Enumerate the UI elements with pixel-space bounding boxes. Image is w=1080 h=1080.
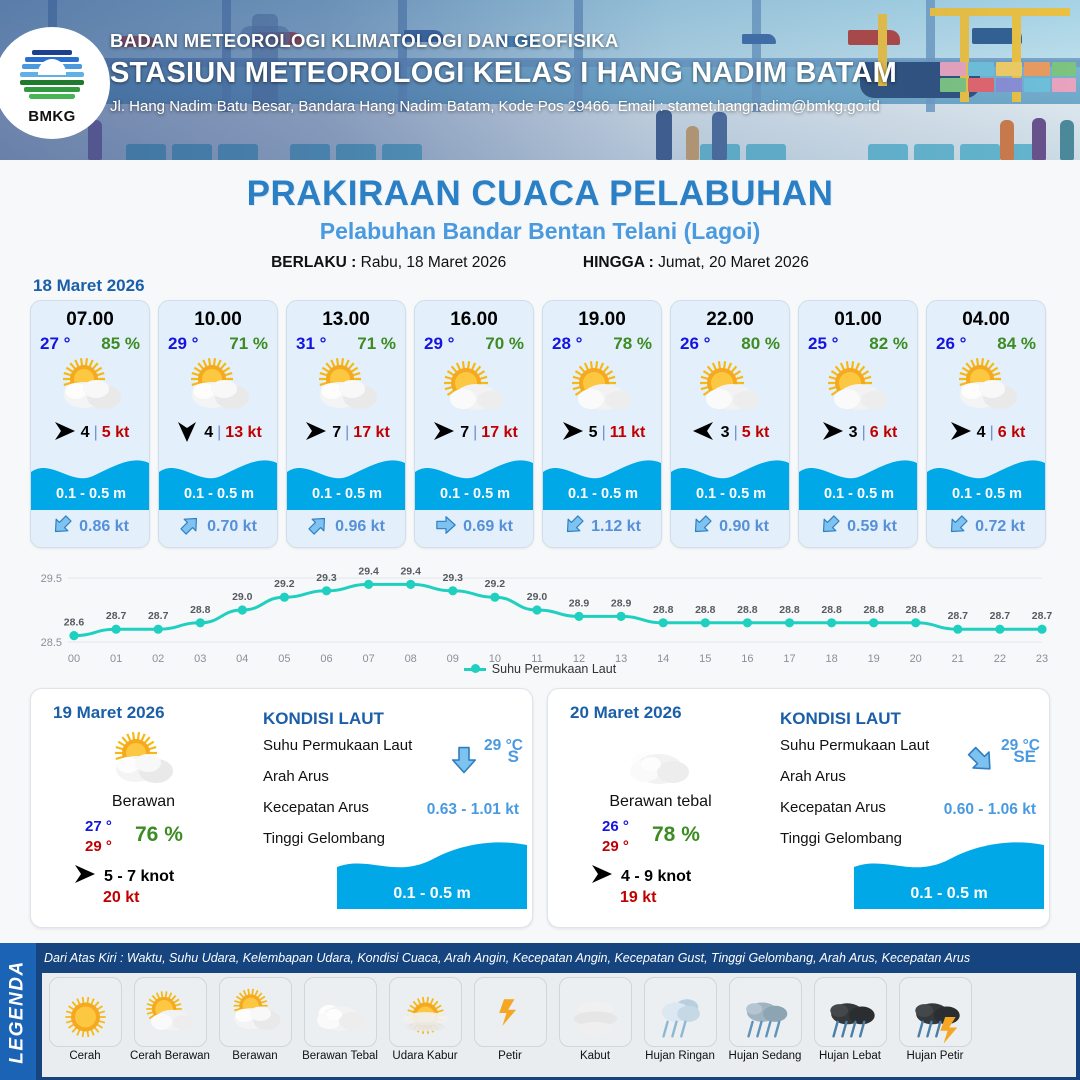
wave-height: 0.1 - 0.5 m	[287, 486, 406, 502]
separator: |	[94, 424, 98, 442]
wind-speed: 5	[589, 424, 598, 442]
svg-text:28.6: 28.6	[64, 617, 85, 629]
card-current-row: 0.70 kt	[159, 510, 277, 544]
sst-line-chart: 29.528.528.60028.70128.70228.80329.00429…	[22, 558, 1058, 678]
legend-item-label: Cerah	[69, 1050, 100, 1062]
forecast-card[interactable]: 19.00 28 ° 78 % 5 | 11 kt 0.1 - 0.5 m 1.…	[542, 300, 662, 548]
panel-condition: Berawan	[31, 793, 256, 811]
current-direction-label: Arah Arus	[263, 768, 329, 785]
separator: |	[345, 424, 349, 442]
legend-item: Cerah	[45, 977, 125, 1073]
wind-direction-icon	[819, 418, 845, 449]
separator: |	[602, 424, 606, 442]
weather-icon-berawan	[159, 358, 277, 416]
svg-text:28.8: 28.8	[863, 604, 884, 616]
wind-direction-icon	[947, 418, 973, 449]
svg-text:28.8: 28.8	[190, 604, 211, 616]
panel-sea-block: KONDISI LAUT Suhu Permukaan Laut 29 °C A…	[263, 709, 523, 861]
panel-wave-value: 0.1 - 0.5 m	[337, 885, 527, 903]
separator: |	[990, 424, 994, 442]
wind-direction-icon	[691, 418, 717, 449]
svg-text:28.7: 28.7	[948, 610, 969, 622]
legend-item-label: Berawan	[232, 1050, 277, 1062]
separator: |	[473, 424, 477, 442]
legend-icon-berawan	[219, 977, 292, 1047]
svg-text:28.7: 28.7	[1032, 610, 1053, 622]
valid-from-label: BERLAKU :	[271, 254, 356, 271]
legend-item-label: Hujan Sedang	[729, 1050, 802, 1062]
legend-icon-hujan-ringan	[644, 977, 717, 1047]
legend-item: Cerah Berawan	[130, 977, 210, 1073]
current-speed-value: 0.63 - 1.01 kt	[427, 801, 519, 819]
hourly-forecast-cards: 07.00 27 ° 85 % 4 | 5 kt 0.1 - 0.5 m	[30, 300, 1050, 548]
daily-forecast-panels: 19 Maret 2026 Berawan 27 ° 29 ° 76 % 5 -…	[30, 688, 1050, 928]
legend-label: Suhu Permukaan Laut	[492, 662, 616, 676]
wind-direction-icon	[430, 418, 456, 449]
card-current-row: 0.96 kt	[287, 510, 405, 544]
current-direction-value: S	[508, 747, 519, 767]
current-direction-icon	[179, 514, 201, 541]
header-text-block: BADAN METEOROLOGI KLIMATOLOGI DAN GEOFIS…	[110, 30, 897, 115]
card-time: 07.00	[31, 301, 149, 331]
valid-until-label: HINGGA :	[583, 254, 654, 271]
card-time: 13.00	[287, 301, 405, 331]
separator: |	[217, 424, 221, 442]
sst-label: Suhu Permukaan Laut	[263, 737, 412, 754]
gust-speed: 11 kt	[610, 424, 646, 442]
current-direction-row: Arah Arus	[263, 768, 523, 799]
svg-text:28.8: 28.8	[779, 604, 800, 616]
gust-speed: 13 kt	[225, 424, 261, 442]
current-direction-value: SE	[1013, 747, 1036, 767]
card-wave-block: 0.1 - 0.5 m	[543, 452, 661, 510]
current-speed-label: Kecepatan Arus	[263, 799, 369, 816]
svg-text:29.3: 29.3	[443, 572, 464, 584]
weather-icon-cerah-berawan	[415, 358, 533, 416]
card-wave-block: 0.1 - 0.5 m	[671, 452, 789, 510]
wind-speed: 4	[81, 424, 90, 442]
legend-icon-petir	[474, 977, 547, 1047]
forecast-card[interactable]: 07.00 27 ° 85 % 4 | 5 kt 0.1 - 0.5 m	[30, 300, 150, 548]
legend-side-title: LEGENDA	[7, 960, 29, 1063]
panel-gust: 19 kt	[620, 889, 656, 907]
panel-wind-range: 5 - 7 knot	[104, 868, 174, 886]
svg-text:29.0: 29.0	[232, 591, 253, 603]
card-wave-block: 0.1 - 0.5 m	[927, 452, 1045, 510]
card-current-row: 0.59 kt	[799, 510, 917, 544]
svg-text:28.9: 28.9	[611, 597, 632, 609]
svg-text:28.5: 28.5	[41, 637, 62, 649]
current-speed: 1.12 kt	[591, 518, 641, 536]
legend-item: Hujan Petir	[895, 977, 975, 1073]
card-time: 19.00	[543, 301, 661, 331]
legend-icon-berawan-tebal	[304, 977, 377, 1047]
svg-text:28.8: 28.8	[653, 604, 674, 616]
day1-date: 18 Maret 2026	[33, 276, 145, 296]
panel-wave-value: 0.1 - 0.5 m	[854, 885, 1044, 903]
svg-text:28.7: 28.7	[148, 610, 169, 622]
svg-text:29.3: 29.3	[316, 572, 337, 584]
svg-text:28.7: 28.7	[990, 610, 1011, 622]
legend-item: Hujan Lebat	[810, 977, 890, 1073]
card-time: 22.00	[671, 301, 789, 331]
legend-item-label: Hujan Lebat	[819, 1050, 881, 1062]
page-header: BMKG BADAN METEOROLOGI KLIMATOLOGI DAN G…	[0, 0, 1080, 160]
gust-speed: 17 kt	[353, 424, 389, 442]
svg-text:28.8: 28.8	[905, 604, 926, 616]
daily-forecast-panel: 20 Maret 2026 Berawan tebal 26 ° 29 ° 78…	[547, 688, 1050, 928]
separator: |	[734, 424, 738, 442]
legend-item: Kabut	[555, 977, 635, 1073]
sst-row: Suhu Permukaan Laut 29 °C	[263, 737, 523, 768]
svg-text:28.8: 28.8	[821, 604, 842, 616]
forecast-card[interactable]: 13.00 31 ° 71 % 7 | 17 kt 0.1 - 0.5 m	[286, 300, 406, 548]
legend-icon-hujan-petir	[899, 977, 972, 1047]
weather-icon-berawan	[87, 731, 197, 791]
svg-text:29.0: 29.0	[527, 591, 548, 603]
legend-icon-hujan-sedang	[729, 977, 802, 1047]
card-current-row: 0.86 kt	[31, 510, 149, 544]
legend-line-marker	[464, 668, 486, 671]
legend-item-label: Hujan Ringan	[645, 1050, 715, 1062]
legend-item: Udara Kabur	[385, 977, 465, 1073]
legend-item-label: Cerah Berawan	[130, 1050, 210, 1062]
legend-icon-cerah-berawan	[134, 977, 207, 1047]
validity-row: BERLAKU : Rabu, 18 Maret 2026 HINGGA : J…	[0, 254, 1080, 272]
card-time: 10.00	[159, 301, 277, 331]
weather-icon-berawan	[31, 358, 149, 416]
wave-height: 0.1 - 0.5 m	[543, 486, 662, 502]
current-speed: 0.96 kt	[335, 518, 385, 536]
wind-speed: 3	[721, 424, 730, 442]
wave-height: 0.1 - 0.5 m	[415, 486, 534, 502]
panel-humidity: 78 %	[652, 823, 700, 847]
sst-label: Suhu Permukaan Laut	[780, 737, 929, 754]
panel-gust: 20 kt	[103, 889, 139, 907]
panel-sea-block: KONDISI LAUT Suhu Permukaan Laut 29 °C A…	[780, 709, 1040, 861]
wind-direction-icon	[588, 861, 614, 892]
weather-icon-berawan-tebal	[604, 731, 714, 791]
sea-condition-title: KONDISI LAUT	[780, 709, 1040, 729]
legend-item: Berawan	[215, 977, 295, 1073]
agency-name: BADAN METEOROLOGI KLIMATOLOGI DAN GEOFIS…	[110, 30, 897, 52]
wind-speed: 4	[977, 424, 986, 442]
panel-temp-min: 27 °	[85, 817, 112, 837]
current-direction-icon	[819, 514, 841, 541]
card-current-row: 1.12 kt	[543, 510, 661, 544]
svg-text:29.2: 29.2	[274, 578, 295, 590]
panel-temp-max: 29 °	[85, 837, 112, 857]
card-wave-block: 0.1 - 0.5 m	[799, 452, 917, 510]
legend-icon-hujan-lebat	[814, 977, 887, 1047]
legend-note: Dari Atas Kiri : Waktu, Suhu Udara, Kele…	[44, 951, 970, 965]
separator: |	[862, 424, 866, 442]
card-time: 04.00	[927, 301, 1045, 331]
wind-direction-icon	[71, 861, 97, 892]
card-wave-block: 0.1 - 0.5 m	[31, 452, 149, 510]
current-direction-icon	[947, 514, 969, 541]
svg-text:28.7: 28.7	[106, 610, 127, 622]
svg-text:29.5: 29.5	[41, 573, 62, 585]
current-direction-icon	[51, 514, 73, 541]
weather-icon-cerah-berawan	[543, 358, 661, 416]
forecast-card[interactable]: 10.00 29 ° 71 % 4 | 13 kt 0.1 - 0.5 m	[158, 300, 278, 548]
forecast-card[interactable]: 16.00 29 ° 70 % 7 | 17 kt 0.1 - 0.5 m 0.…	[414, 300, 534, 548]
legend-icon-cerah	[49, 977, 122, 1047]
wind-direction-icon	[302, 418, 328, 449]
wind-speed: 7	[460, 424, 469, 442]
gust-speed: 6 kt	[998, 424, 1026, 442]
legend-icon-udara-kabur	[389, 977, 462, 1047]
current-direction-icon	[691, 514, 713, 541]
svg-text:29.4: 29.4	[358, 565, 379, 577]
gust-speed: 5 kt	[742, 424, 770, 442]
wind-speed: 7	[332, 424, 341, 442]
current-direction-icon	[307, 514, 329, 541]
weather-icon-berawan	[287, 358, 405, 416]
card-time: 16.00	[415, 301, 533, 331]
card-current-row: 0.90 kt	[671, 510, 789, 544]
current-speed: 0.72 kt	[975, 518, 1025, 536]
forecast-card[interactable]: 01.00 25 ° 82 % 3 | 6 kt 0.1 - 0.5 m 0.5…	[798, 300, 918, 548]
panel-wind-row: 5 - 7 knot	[71, 861, 174, 892]
current-direction-label: Arah Arus	[780, 768, 846, 785]
wind-speed: 3	[849, 424, 858, 442]
panel-date: 19 Maret 2026	[53, 703, 165, 723]
panel-humidity: 76 %	[135, 823, 183, 847]
current-speed: 0.86 kt	[79, 518, 129, 536]
wind-direction-icon	[174, 418, 200, 449]
wind-speed: 4	[204, 424, 213, 442]
current-direction-icon	[449, 745, 479, 780]
wind-direction-icon	[51, 418, 77, 449]
bmkg-logo-mark	[18, 42, 86, 106]
legend-item: Berawan Tebal	[300, 977, 380, 1073]
sst-row: Suhu Permukaan Laut 29 °C	[780, 737, 1040, 768]
legend-icon-kabut	[559, 977, 632, 1047]
legend-item-label: Berawan Tebal	[302, 1050, 378, 1062]
current-speed-label: Kecepatan Arus	[780, 799, 886, 816]
legend-side-bar: LEGENDA	[0, 943, 36, 1080]
current-speed: 0.59 kt	[847, 518, 897, 536]
panel-temp-min: 26 °	[602, 817, 629, 837]
current-direction-icon	[435, 514, 457, 541]
station-name: STASIUN METEOROLOGI KELAS I HANG NADIM B…	[110, 57, 897, 90]
legend-item-label: Hujan Petir	[907, 1050, 964, 1062]
station-address: Jl. Hang Nadim Batu Besar, Bandara Hang …	[110, 98, 897, 115]
legend-section: LEGENDA Dari Atas Kiri : Waktu, Suhu Uda…	[0, 943, 1080, 1080]
legend-item: Hujan Sedang	[725, 977, 805, 1073]
sea-condition-title: KONDISI LAUT	[263, 709, 523, 729]
card-current-row: 0.72 kt	[927, 510, 1045, 544]
card-time: 01.00	[799, 301, 917, 331]
current-speed: 0.90 kt	[719, 518, 769, 536]
card-wave-block: 0.1 - 0.5 m	[159, 452, 277, 510]
legend-item: Hujan Ringan	[640, 977, 720, 1073]
panel-temp-range: 26 ° 29 °	[602, 817, 629, 857]
svg-text:29.2: 29.2	[485, 578, 506, 590]
forecast-card[interactable]: 04.00 26 ° 84 % 4 | 6 kt 0.1 - 0.5 m	[926, 300, 1046, 548]
legend-item: Petir	[470, 977, 550, 1073]
legend-items: Cerah Cerah Berawan Berawan Berawan Teba…	[42, 973, 1076, 1077]
current-speed: 0.69 kt	[463, 518, 513, 536]
wind-direction-icon	[559, 418, 585, 449]
current-direction-icon	[966, 745, 996, 780]
weather-icon-cerah-berawan	[799, 358, 917, 416]
bmkg-logo-text: BMKG	[28, 108, 75, 125]
panel-condition: Berawan tebal	[548, 793, 773, 811]
panel-date: 20 Maret 2026	[570, 703, 682, 723]
page-subtitle: Pelabuhan Bandar Bentan Telani (Lagoi)	[0, 218, 1080, 245]
page-title: PRAKIRAAN CUACA PELABUHAN	[0, 174, 1080, 214]
wave-height: 0.1 - 0.5 m	[31, 486, 150, 502]
card-wave-block: 0.1 - 0.5 m	[287, 452, 405, 510]
svg-text:28.8: 28.8	[737, 604, 758, 616]
forecast-card[interactable]: 22.00 26 ° 80 % 3 | 5 kt 0.1 - 0.5 m 0.9…	[670, 300, 790, 548]
legend-item-label: Kabut	[580, 1050, 610, 1062]
current-direction-row: Arah Arus	[780, 768, 1040, 799]
wave-height: 0.1 - 0.5 m	[799, 486, 918, 502]
card-wave-block: 0.1 - 0.5 m	[415, 452, 533, 510]
gust-speed: 6 kt	[870, 424, 898, 442]
card-current-row: 0.69 kt	[415, 510, 533, 544]
current-speed-value: 0.60 - 1.06 kt	[944, 801, 1036, 819]
valid-until-value: Jumat, 20 Maret 2026	[658, 254, 809, 271]
svg-text:29.4: 29.4	[400, 565, 421, 577]
daily-forecast-panel: 19 Maret 2026 Berawan 27 ° 29 ° 76 % 5 -…	[30, 688, 533, 928]
legend-item-label: Petir	[498, 1050, 522, 1062]
svg-text:28.8: 28.8	[695, 604, 716, 616]
panel-temp-max: 29 °	[602, 837, 629, 857]
svg-text:28.9: 28.9	[569, 597, 590, 609]
legend-item-label: Udara Kabur	[392, 1050, 457, 1062]
panel-wind-range: 4 - 9 knot	[621, 868, 691, 886]
weather-icon-berawan	[927, 358, 1045, 416]
title-block: PRAKIRAAN CUACA PELABUHAN Pelabuhan Band…	[0, 174, 1080, 272]
gust-speed: 17 kt	[481, 424, 517, 442]
chart-legend: Suhu Permukaan Laut	[0, 662, 1080, 676]
panel-wind-row: 4 - 9 knot	[588, 861, 691, 892]
valid-from-value: Rabu, 18 Maret 2026	[361, 254, 507, 271]
gust-speed: 5 kt	[102, 424, 130, 442]
current-direction-icon	[563, 514, 585, 541]
weather-icon-cerah-berawan	[671, 358, 789, 416]
wave-height: 0.1 - 0.5 m	[159, 486, 278, 502]
current-speed: 0.70 kt	[207, 518, 257, 536]
panel-temp-range: 27 ° 29 °	[85, 817, 112, 857]
wave-height: 0.1 - 0.5 m	[671, 486, 790, 502]
wave-height: 0.1 - 0.5 m	[927, 486, 1046, 502]
